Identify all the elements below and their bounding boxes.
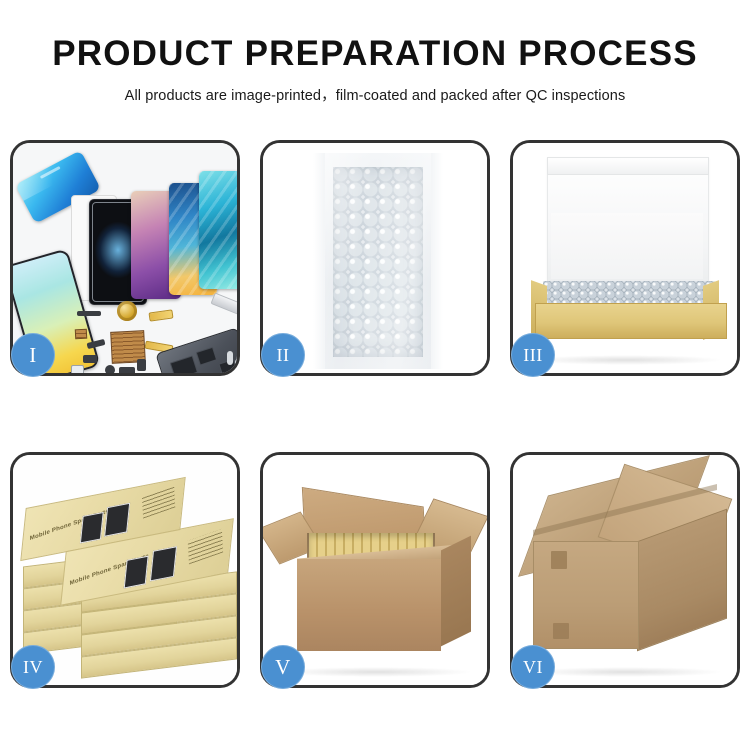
panel-step-1: I: [10, 140, 240, 376]
panel-step-5: V: [260, 452, 490, 688]
panel-step-4: Mobile Phone Spare Parts Mobile Phone Sp…: [10, 452, 240, 688]
box-art-phone-2: [150, 546, 177, 581]
carton-tape-patch-top: [551, 551, 567, 569]
drop-shadow: [279, 667, 473, 677]
carton-front-panel: [297, 559, 441, 651]
step-badge: VI: [511, 645, 555, 689]
part-bracket: [137, 359, 146, 371]
box-art-phone-1: [124, 556, 149, 589]
part-gold-coil: [117, 301, 137, 321]
panel-step-2: II: [260, 140, 490, 376]
page-subtitle: All products are image-printed，film-coat…: [0, 84, 750, 105]
box-back-lid: [547, 157, 709, 175]
part-screw-2: [235, 359, 237, 371]
part-button-round: [105, 365, 115, 373]
step-badge: IV: [11, 645, 55, 689]
step-badge: II: [261, 333, 305, 377]
step-badge: V: [261, 645, 305, 689]
carton-side-panel: [441, 536, 471, 647]
carton-front-panel: [533, 541, 639, 649]
wrap-edge-left: [313, 153, 325, 369]
box-art-spec-lines: [142, 486, 175, 519]
chip: [196, 347, 217, 366]
part-speaker: [119, 367, 135, 373]
step-badge: III: [511, 333, 555, 377]
part-mesh-small: [75, 329, 88, 340]
part-connector-2: [83, 355, 97, 363]
part-screw-1: [227, 351, 233, 365]
wallpaper-wave: [199, 171, 237, 289]
box-front-kraft-panel: [535, 303, 727, 339]
bubble-wrapped-item: [325, 153, 431, 369]
drop-shadow: [529, 355, 723, 365]
process-panel-grid: I II: [10, 140, 740, 688]
phone-teal-gradient: [199, 171, 237, 289]
panel-step-6: VI: [510, 452, 740, 688]
retail-box-stack: Mobile Phone Spare Parts Mobile Phone Sp…: [23, 477, 235, 675]
part-strip-dark: [77, 311, 101, 316]
wrap-edge-right: [431, 153, 443, 369]
page-title: PRODUCT PREPARATION PROCESS: [0, 34, 750, 74]
chip: [170, 355, 198, 373]
part-sim-tray: [71, 365, 84, 373]
carton-tape-patch-bottom: [553, 623, 569, 639]
box-art-phone-2: [104, 503, 130, 537]
plastic-sheen: [325, 153, 431, 369]
infographic-page: PRODUCT PREPARATION PROCESS All products…: [0, 0, 750, 750]
box-art-spec-lines: [188, 529, 223, 564]
box-art-phone-1: [80, 512, 104, 544]
panel-step-3: III: [510, 140, 740, 376]
box-foam-sheet: [551, 213, 703, 279]
drop-shadow: [529, 667, 723, 677]
step-badge: I: [11, 333, 55, 377]
